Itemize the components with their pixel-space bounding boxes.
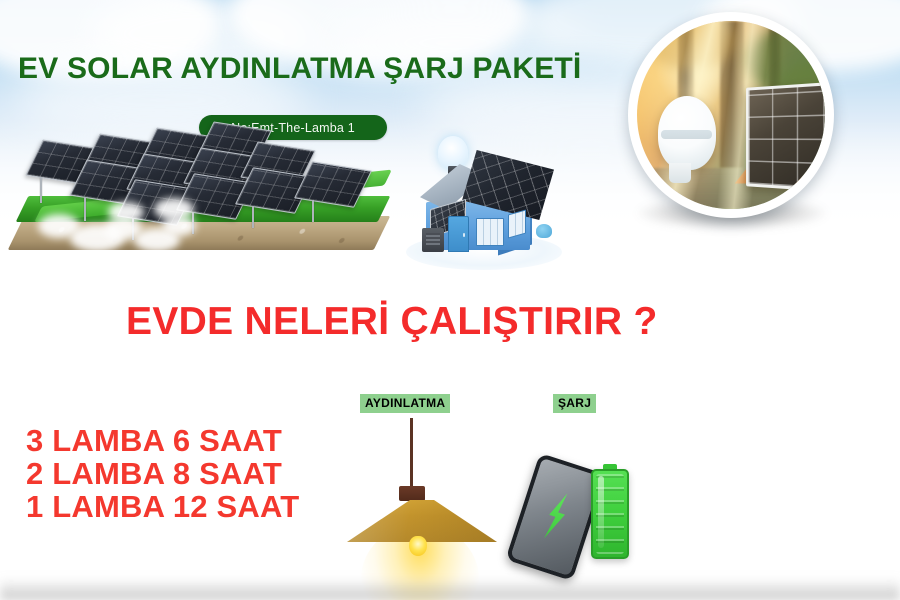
bulb-neck <box>669 163 691 183</box>
led-bulb-photo <box>658 96 716 170</box>
charging-label: ŞARJ <box>553 394 596 413</box>
house-illustration <box>400 112 575 272</box>
list-item: 2 LAMBA 8 SAAT <box>26 457 299 490</box>
list-item: 1 LAMBA 12 SAAT <box>26 490 299 523</box>
main-question-heading: EVDE NELERİ ÇALIŞTIRIR ? <box>126 300 658 344</box>
panel-leg <box>84 197 86 221</box>
panel-leg <box>40 177 42 203</box>
lamp-bulb <box>409 536 427 556</box>
capacity-list: 3 LAMBA 6 SAAT 2 LAMBA 8 SAAT 1 LAMBA 12… <box>26 424 299 523</box>
panel-leg <box>312 200 314 222</box>
charging-icon-group <box>517 455 637 565</box>
lighting-label: AYDINLATMA <box>360 394 450 413</box>
bulb-band <box>661 130 712 139</box>
battery-highlight <box>598 476 604 548</box>
list-item: 3 LAMBA 6 SAAT <box>26 424 299 457</box>
light-bulb-icon <box>438 136 468 170</box>
lamp-cord <box>410 418 413 488</box>
pendant-lamp-icon <box>347 418 497 578</box>
bottom-shadow-band <box>0 578 900 600</box>
circle-photo-frame <box>628 12 834 218</box>
house-door <box>448 216 469 252</box>
portable-solar-panel-photo <box>746 82 825 192</box>
battery-icon <box>591 469 629 559</box>
solar-farm-illustration <box>8 140 398 270</box>
decor-bush <box>536 224 552 238</box>
cloud-puff <box>108 202 144 222</box>
battery-box <box>422 228 444 252</box>
panel-leg <box>252 206 254 228</box>
page-title: EV SOLAR AYDINLATMA ŞARJ PAKETİ <box>18 52 581 86</box>
lamp-mount <box>399 486 425 501</box>
poster-canvas: EV SOLAR AYDINLATMA ŞARJ PAKETİ No:Emt-T… <box>0 0 900 600</box>
circle-photo-image <box>637 21 825 209</box>
cloud-puff <box>154 198 194 220</box>
house-window <box>476 218 504 246</box>
